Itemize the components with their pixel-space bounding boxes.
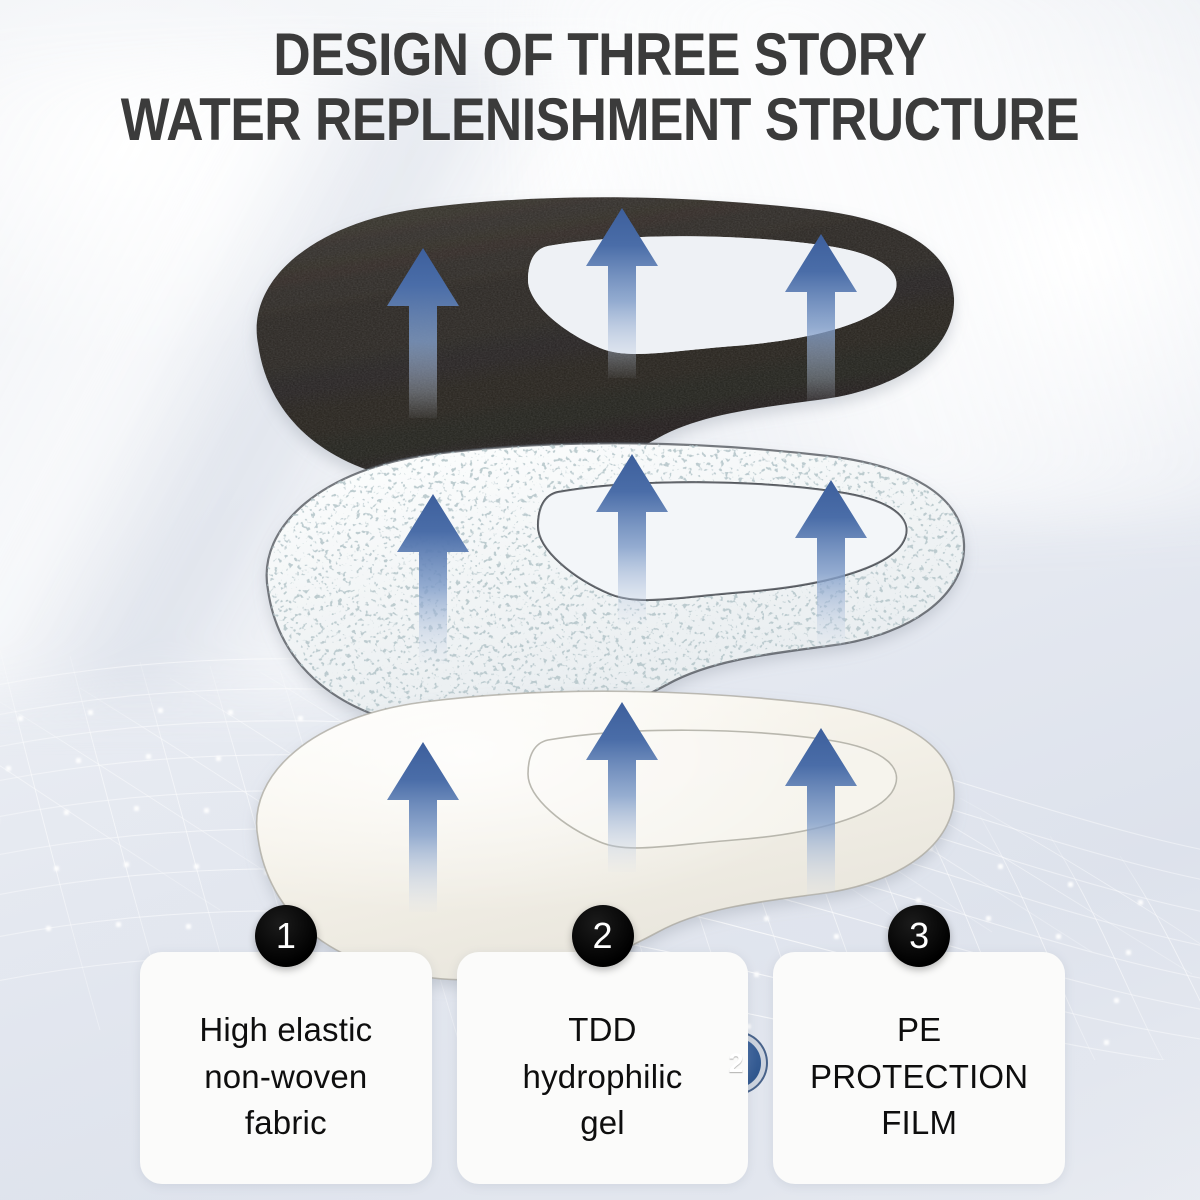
layer-marker-2-number: 2: [728, 1050, 743, 1077]
legend-badge-3: 3: [888, 905, 950, 967]
legend-badge-2: 2: [572, 905, 634, 967]
infographic-canvas: DESIGN OF THREE STORY WATER REPLENISHMEN…: [0, 0, 1200, 1200]
title-line-2: WATER REPLENISHMENT STRUCTURE: [84, 91, 1116, 150]
legend-card-3[interactable]: 3 PE PROTECTION FILM: [773, 952, 1065, 1184]
legend-card-3-label: PE PROTECTION FILM: [800, 989, 1038, 1148]
legend-card-1-label: High elastic non-woven fabric: [189, 989, 382, 1148]
title-line-1: DESIGN OF THREE STORY: [84, 26, 1116, 85]
legend-card-2[interactable]: 2 TDD hydrophilic gel: [457, 952, 749, 1184]
page-title: DESIGN OF THREE STORY WATER REPLENISHMEN…: [0, 26, 1200, 150]
legend-badge-1-number: 1: [276, 915, 296, 957]
legend-card-2-label: TDD hydrophilic gel: [513, 989, 693, 1148]
legend-badge-3-number: 3: [909, 915, 929, 957]
legend-cards: 1 High elastic non-woven fabric 2 TDD hy…: [140, 952, 1065, 1184]
legend-card-1[interactable]: 1 High elastic non-woven fabric: [140, 952, 432, 1184]
legend-badge-2-number: 2: [592, 915, 612, 957]
legend-badge-1: 1: [255, 905, 317, 967]
